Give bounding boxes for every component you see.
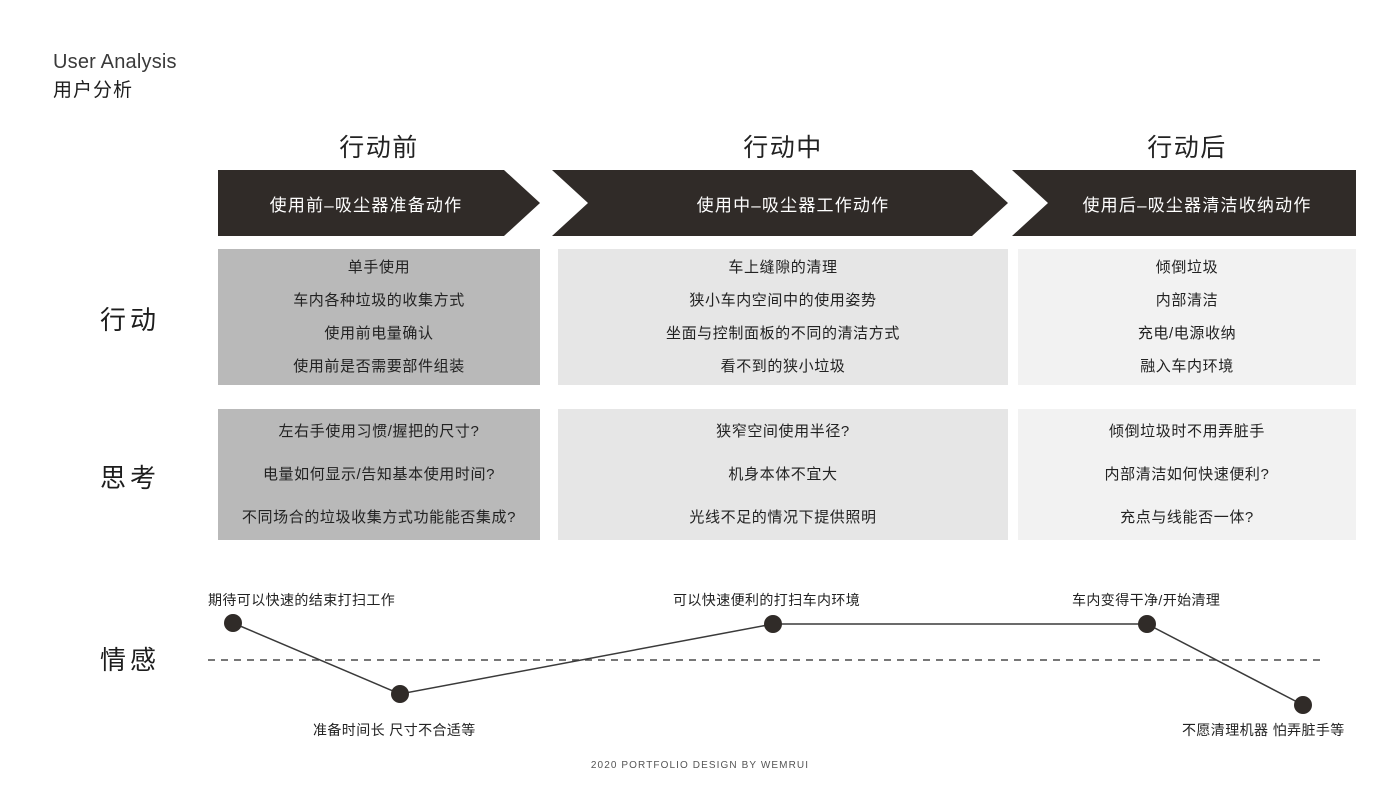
thinking-item: 倾倒垃圾时不用弄脏手 <box>1109 424 1265 439</box>
phase-banner-label: 使用中–吸尘器工作动作 <box>671 191 890 216</box>
emotion-point-label: 期待可以快速的结束打扫工作 <box>208 593 395 607</box>
action-item: 单手使用 <box>348 260 410 275</box>
action-item: 内部清洁 <box>1156 293 1218 308</box>
emotion-point-dot[interactable] <box>764 615 782 633</box>
action-item: 看不到的狭小垃圾 <box>721 359 846 374</box>
action-item: 坐面与控制面板的不同的清洁方式 <box>666 326 900 341</box>
action-item: 倾倒垃圾 <box>1156 260 1218 275</box>
thinking-item: 机身本体不宜大 <box>728 467 837 482</box>
emotion-point-label: 车内变得干净/开始清理 <box>1072 593 1220 607</box>
action-cell-before: 单手使用 车内各种垃圾的收集方式 使用前电量确认 使用前是否需要部件组装 <box>218 249 540 385</box>
footer-credit: 2020 PORTFOLIO DESIGN BY WEMRUI <box>0 760 1400 771</box>
action-item: 使用前电量确认 <box>324 326 433 341</box>
thinking-cell-before: 左右手使用习惯/握把的尺寸? 电量如何显示/告知基本使用时间? 不同场合的垃圾收… <box>218 409 540 540</box>
row-label-thinking: 思考 <box>100 458 160 495</box>
phase-banner-label: 使用后–吸尘器清洁收纳动作 <box>1056 191 1311 216</box>
emotion-point-dot[interactable] <box>224 614 242 632</box>
phase-title-during: 行动中 <box>558 128 1008 164</box>
action-item: 充电/电源收纳 <box>1138 326 1236 341</box>
thinking-item: 内部清洁如何快速便利? <box>1105 467 1270 482</box>
thinking-item: 左右手使用习惯/握把的尺寸? <box>279 424 480 439</box>
emotion-point-dot[interactable] <box>1294 696 1312 714</box>
action-item: 车内各种垃圾的收集方式 <box>293 293 465 308</box>
action-item: 狭小车内空间中的使用姿势 <box>689 293 876 308</box>
action-item: 融入车内环境 <box>1140 359 1234 374</box>
thinking-cell-after: 倾倒垃圾时不用弄脏手 内部清洁如何快速便利? 充点与线能否一体? <box>1018 409 1356 540</box>
phase-banner-label: 使用前–吸尘器准备动作 <box>270 191 489 216</box>
phase-title-before: 行动前 <box>218 128 540 164</box>
row-label-action: 行动 <box>100 300 160 337</box>
phase-banner-before: 使用前–吸尘器准备动作 <box>218 170 540 236</box>
page-title-cn: 用户分析 <box>53 77 177 105</box>
thinking-item: 电量如何显示/告知基本使用时间? <box>263 467 495 482</box>
thinking-cell-during: 狭窄空间使用半径? 机身本体不宜大 光线不足的情况下提供照明 <box>558 409 1008 540</box>
thinking-item: 不同场合的垃圾收集方式功能能否集成? <box>242 510 516 525</box>
page-title-en: User Analysis <box>53 48 177 77</box>
emotion-point-label: 准备时间长 尺寸不合适等 <box>313 723 476 737</box>
emotion-point-label: 不愿清理机器 怕弄脏手等 <box>1182 723 1345 737</box>
action-cell-during: 车上缝隙的清理 狭小车内空间中的使用姿势 坐面与控制面板的不同的清洁方式 看不到… <box>558 249 1008 385</box>
action-item: 车上缝隙的清理 <box>728 260 837 275</box>
emotion-point-label: 可以快速便利的打扫车内环境 <box>673 593 860 607</box>
action-item: 使用前是否需要部件组装 <box>293 359 465 374</box>
thinking-item: 光线不足的情况下提供照明 <box>689 510 876 525</box>
phase-banner-during: 使用中–吸尘器工作动作 <box>552 170 1008 236</box>
phase-title-after: 行动后 <box>1018 128 1356 164</box>
thinking-item: 狭窄空间使用半径? <box>716 424 850 439</box>
phase-banner-after: 使用后–吸尘器清洁收纳动作 <box>1012 170 1356 236</box>
emotion-point-dot[interactable] <box>391 685 409 703</box>
thinking-item: 充点与线能否一体? <box>1120 510 1254 525</box>
page-header: User Analysis 用户分析 <box>53 48 177 105</box>
emotion-point-dot[interactable] <box>1138 615 1156 633</box>
action-cell-after: 倾倒垃圾 内部清洁 充电/电源收纳 融入车内环境 <box>1018 249 1356 385</box>
